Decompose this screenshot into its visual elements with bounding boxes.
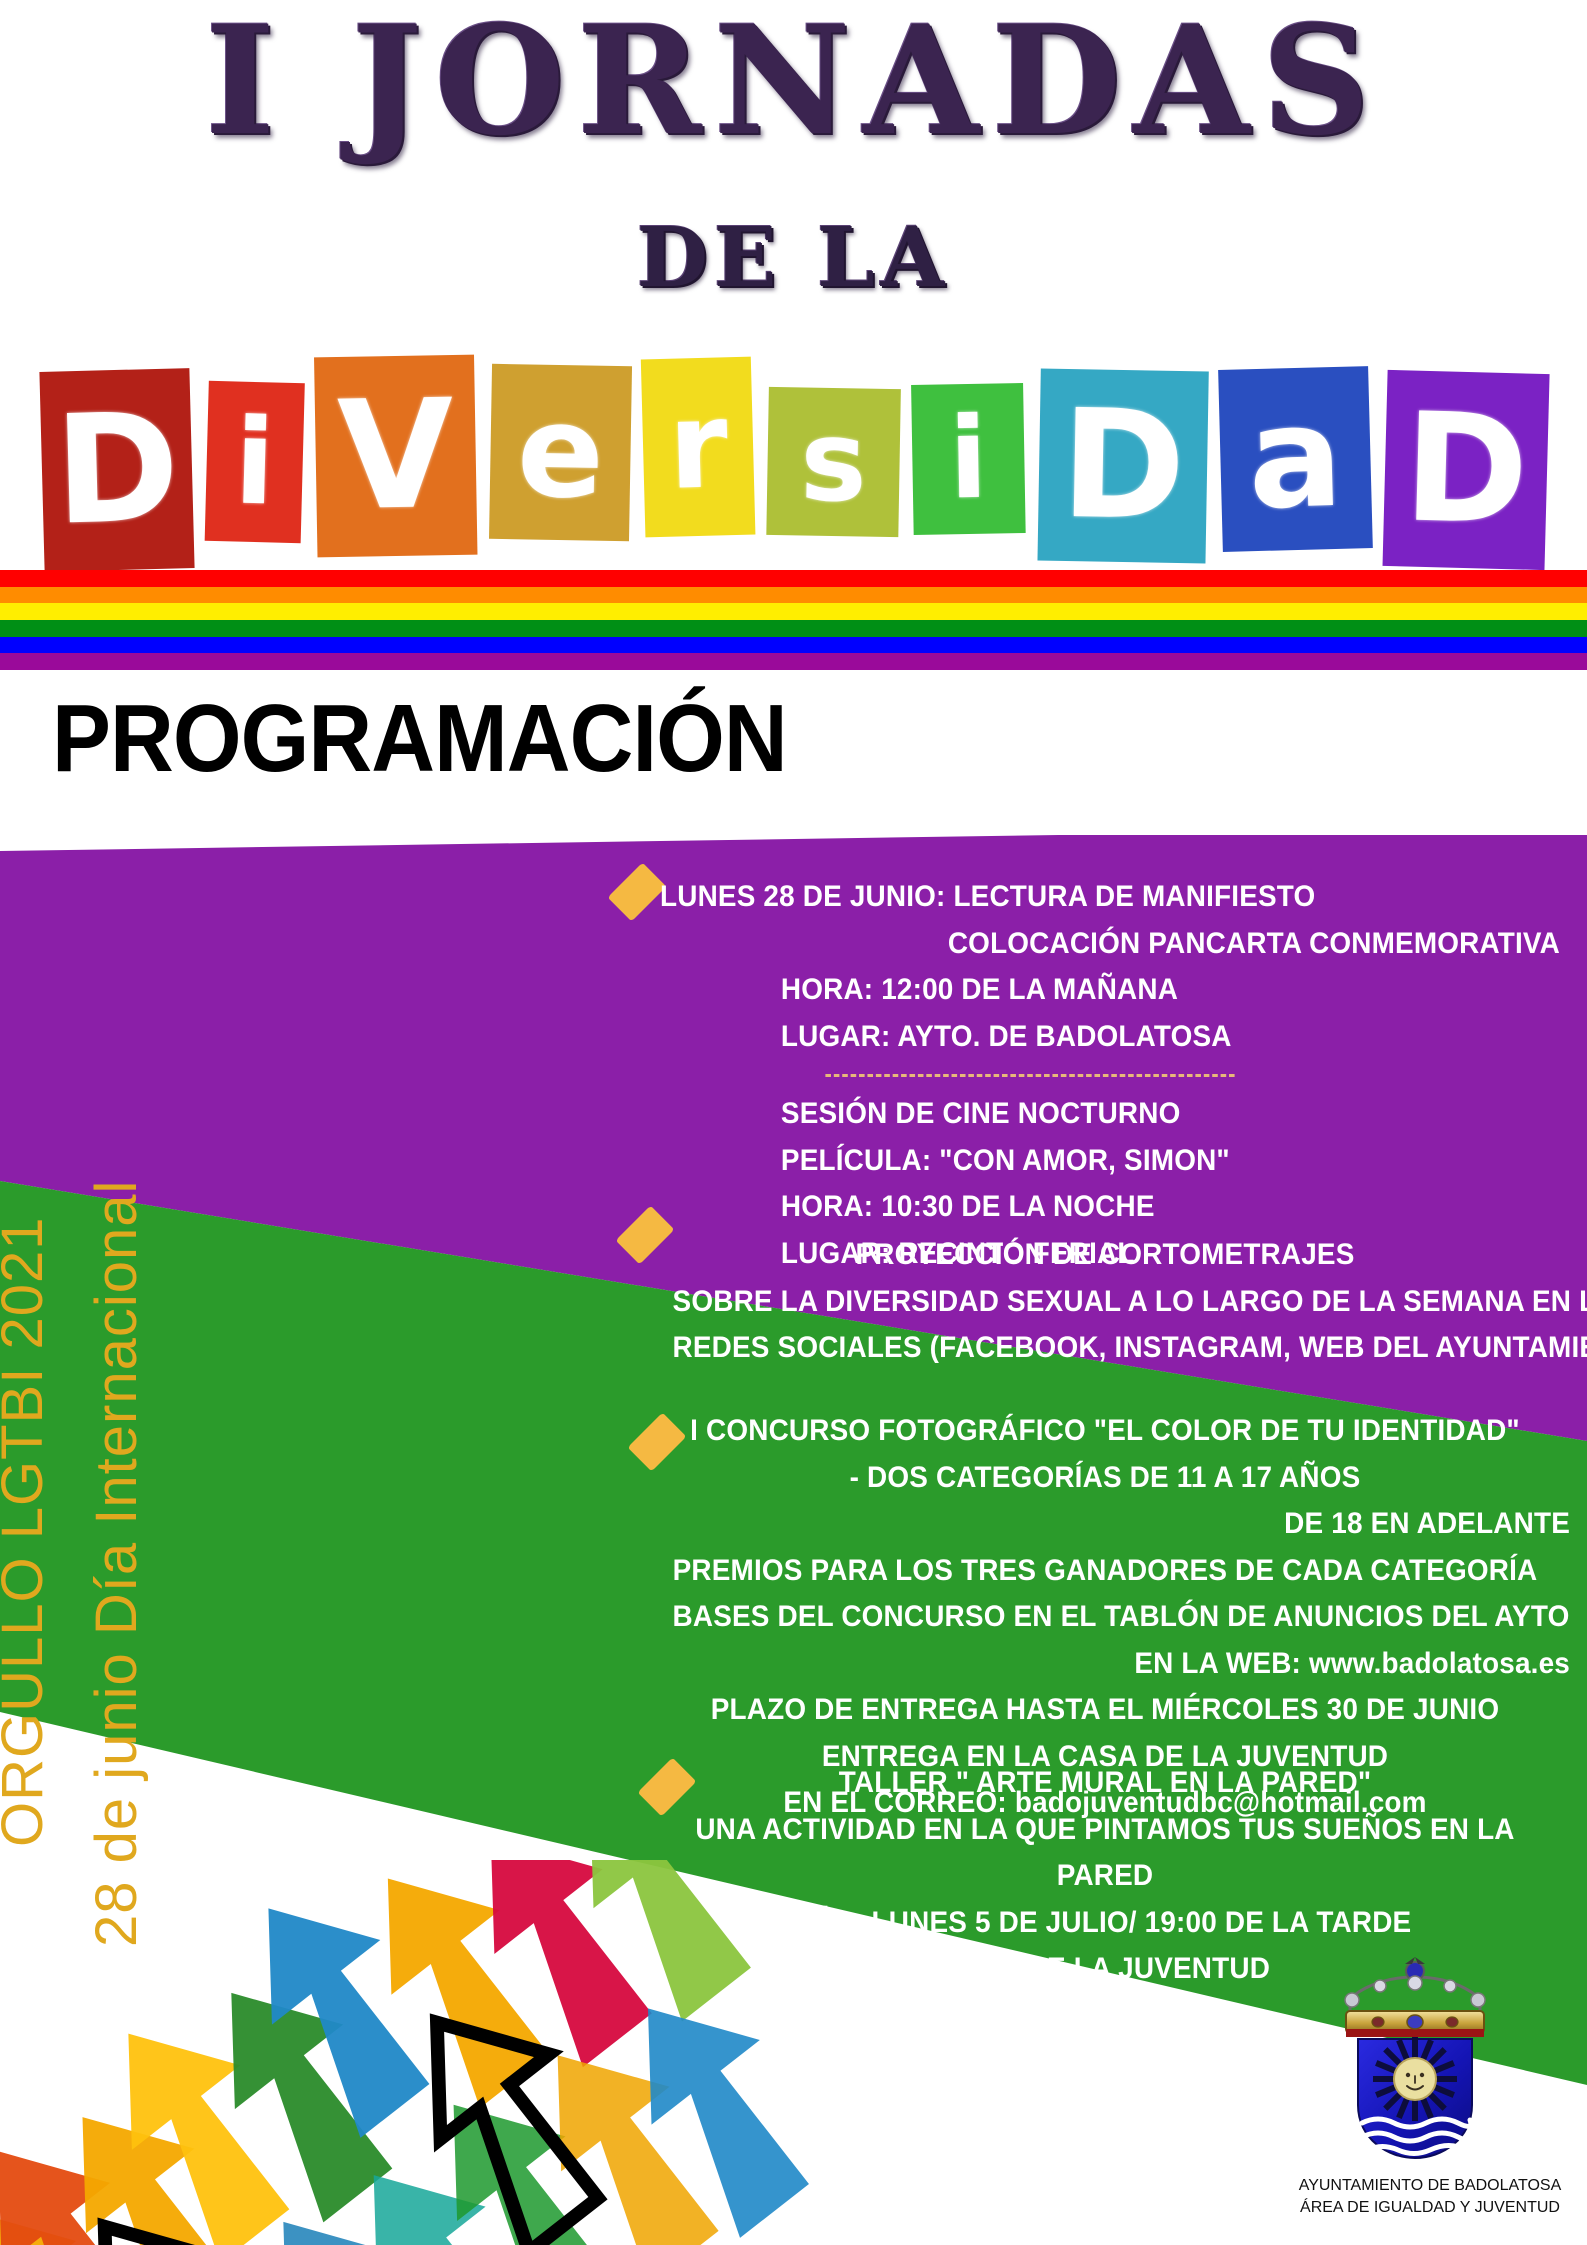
rainbow-stripes xyxy=(0,570,1587,670)
entry-line: PROYECCIÓN DE CORTOMETRAJES xyxy=(673,1232,1538,1279)
title-jornadas: I JORNADAS xyxy=(0,6,1587,156)
crown-icon xyxy=(1345,1957,1485,2037)
coat-of-arms xyxy=(1330,1955,1500,2170)
entry-text-block: PROYECCIÓN DE CORTOMETRAJESSOBRE LA DIVE… xyxy=(640,1232,1570,1372)
entry-line: EN LA WEB: www.badolatosa.es xyxy=(705,1641,1570,1688)
entry-line: HORA: 12:00 DE LA MAÑANA xyxy=(660,967,1497,1014)
entry-line: REDES SOCIALES (FACEBOOK, INSTAGRAM, WEB… xyxy=(673,1325,1538,1372)
entry-line: HORA: 10:30 DE LA NOCHE xyxy=(660,1184,1497,1231)
entry-separator xyxy=(825,1074,1234,1077)
diversidad-letter-glyph: V xyxy=(336,380,455,532)
diversidad-letter-glyph: i xyxy=(233,403,277,522)
arrows-artwork xyxy=(0,1860,840,2245)
entry-line: PLAZO DE ENTREGA HASTA EL MIÉRCOLES 30 D… xyxy=(673,1687,1538,1734)
entry-line: SESIÓN DE CINE NOCTURNO xyxy=(660,1091,1497,1138)
diversidad-letter-5: s xyxy=(767,387,902,537)
programacion-band: PROGRAMACIÓN xyxy=(0,670,1587,835)
diversidad-letter-glyph: e xyxy=(516,388,605,517)
diversidad-letter-0: D xyxy=(39,368,194,572)
entry-line: DE 18 EN ADELANTE xyxy=(705,1501,1570,1548)
entry-line: LUNES 28 DE JUNIO: LECTURA DE MANIFIESTO xyxy=(660,874,1497,921)
side-text-orgullo: ORGULLO LGTBI 2021 xyxy=(0,1217,56,1847)
entry-line: PELÍCULA: "CON AMOR, SIMON" xyxy=(660,1138,1497,1185)
footer-line-2: ÁREA DE IGUALDAD Y JUVENTUD xyxy=(1290,2197,1570,2219)
diversidad-letter-2: V xyxy=(314,355,477,558)
entry-line: I CONCURSO FOTOGRÁFICO "EL COLOR DE TU I… xyxy=(673,1408,1538,1455)
bullet-diamond-icon xyxy=(608,863,667,922)
title-diversidad: DiVersiDaD xyxy=(42,320,1547,570)
entry-line: TALLER " ARTE MURAL EN LA PARED" xyxy=(673,1760,1538,1807)
diversidad-letter-glyph: D xyxy=(53,393,181,546)
entry-line: - DOS CATEGORÍAS DE 11 A 17 AÑOS xyxy=(673,1455,1538,1502)
rainbow-stripe-0 xyxy=(0,570,1587,587)
diversidad-letter-glyph: D xyxy=(1402,393,1530,546)
entry-line: SOBRE LA DIVERSIDAD SEXUAL A LO LARGO DE… xyxy=(673,1279,1538,1326)
entry-text-block: LUNES 28 DE JUNIO: LECTURA DE MANIFIESTO… xyxy=(660,874,1560,1277)
entry-line: BASES DEL CONCURSO EN EL TABLÓN DE ANUNC… xyxy=(673,1594,1538,1641)
diversidad-letter-1: i xyxy=(205,381,305,543)
rainbow-stripe-4 xyxy=(0,637,1587,654)
rainbow-stripe-1 xyxy=(0,587,1587,604)
sun-icon xyxy=(1373,2037,1457,2121)
diversidad-letter-glyph: r xyxy=(666,386,728,508)
diversidad-letter-glyph: s xyxy=(800,405,869,518)
title-de-la: DE LA xyxy=(0,210,1587,306)
rainbow-stripe-3 xyxy=(0,620,1587,637)
diversidad-letter-9: D xyxy=(1382,370,1549,570)
footer-credit: AYUNTAMIENTO DE BADOLATOSA ÁREA DE IGUAL… xyxy=(1290,2175,1570,2218)
diversidad-letter-glyph: a xyxy=(1246,388,1344,530)
poster-canvas: I JORNADAS DE LA DiVersiDaD PROGRAMACIÓN… xyxy=(0,0,1587,2245)
rainbow-stripe-2 xyxy=(0,603,1587,620)
entry-line: COLOCACIÓN PANCARTA CONMEMORATIVA xyxy=(723,921,1560,968)
entry-line: LUGAR: AYTO. DE BADOLATOSA xyxy=(660,1014,1497,1061)
diversidad-letter-3: e xyxy=(489,364,632,541)
diversidad-letter-6: i xyxy=(911,383,1026,535)
side-text-dia-internacional: 28 de junio Día Internacional xyxy=(83,1180,150,1947)
page-title: PROGRAMACIÓN xyxy=(52,684,787,794)
diversidad-letter-glyph: D xyxy=(1060,390,1187,542)
rainbow-stripe-5 xyxy=(0,653,1587,670)
diversidad-letter-glyph: i xyxy=(948,403,988,516)
diversidad-letter-4: r xyxy=(640,357,755,538)
diversidad-letter-7: D xyxy=(1038,369,1209,564)
entry-line: UNA ACTIVIDAD EN LA QUE PINTAMOS TUS SUE… xyxy=(673,1807,1538,1854)
entry-line: PREMIOS PARA LOS TRES GANADORES DE CADA … xyxy=(673,1548,1538,1595)
footer-line-1: AYUNTAMIENTO DE BADOLATOSA xyxy=(1290,2175,1570,2197)
diversidad-letter-8: a xyxy=(1218,366,1373,552)
